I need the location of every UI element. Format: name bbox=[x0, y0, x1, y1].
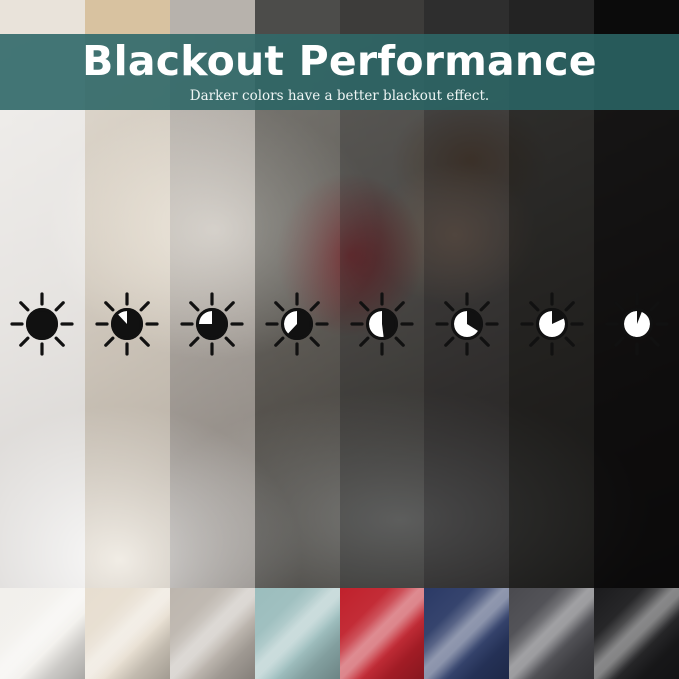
sun-brightness-icon bbox=[259, 286, 335, 362]
fabric-swatch-navy bbox=[424, 588, 509, 679]
brightness-icon-teal bbox=[255, 286, 340, 362]
poster-subtitle: Darker colors have a better blackout eff… bbox=[190, 88, 489, 104]
fabric-swatch-white bbox=[0, 588, 85, 679]
brightness-icon-navy bbox=[424, 286, 509, 362]
sun-brightness-icon bbox=[514, 286, 590, 362]
header-banner: Blackout Performance Darker colors have … bbox=[0, 34, 679, 110]
brightness-icon-white bbox=[0, 286, 85, 362]
fabric-swatch-light-gray bbox=[170, 588, 255, 679]
sun-brightness-icon bbox=[89, 286, 165, 362]
top-swatch-light-gray bbox=[170, 0, 255, 34]
top-swatch-beige bbox=[85, 0, 170, 34]
fabric-swatch-dark-gray bbox=[509, 588, 594, 679]
brightness-icon-beige bbox=[85, 286, 170, 362]
top-swatch-navy bbox=[424, 0, 509, 34]
fabric-swatch-red bbox=[340, 588, 425, 679]
top-swatch-red bbox=[340, 0, 425, 34]
top-swatch-black bbox=[594, 0, 679, 34]
top-swatch-teal bbox=[255, 0, 340, 34]
sun-brightness-icon bbox=[429, 286, 505, 362]
sun-brightness-icon bbox=[599, 286, 675, 362]
sun-brightness-icon bbox=[174, 286, 250, 362]
poster: Blackout Performance Darker colors have … bbox=[0, 0, 679, 679]
brightness-icon-row bbox=[0, 286, 679, 362]
sun-brightness-icon bbox=[4, 286, 80, 362]
fabric-swatch-teal bbox=[255, 588, 340, 679]
brightness-icon-red bbox=[340, 286, 425, 362]
fabric-swatch-strip bbox=[0, 588, 679, 679]
brightness-icon-light-gray bbox=[170, 286, 255, 362]
top-swatch-dark-gray bbox=[509, 0, 594, 34]
fabric-swatch-beige bbox=[85, 588, 170, 679]
sun-brightness-icon bbox=[344, 286, 420, 362]
top-swatch-white bbox=[0, 0, 85, 34]
fabric-swatch-black bbox=[594, 588, 679, 679]
brightness-icon-black bbox=[594, 286, 679, 362]
top-swatch-strip bbox=[0, 0, 679, 34]
brightness-icon-dark-gray bbox=[509, 286, 594, 362]
poster-title: Blackout Performance bbox=[82, 40, 597, 83]
